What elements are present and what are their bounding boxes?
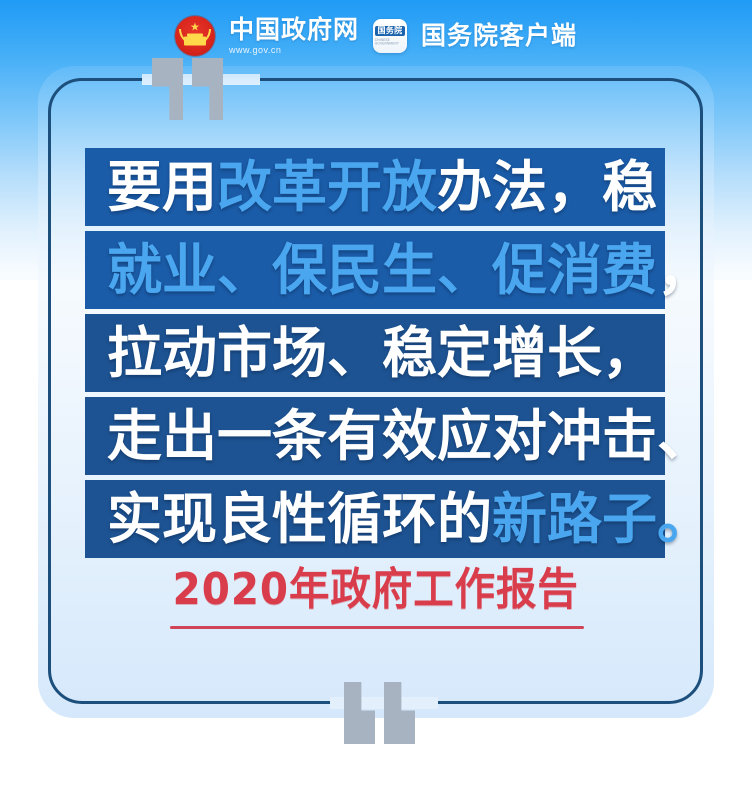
quote-line-3: 拉动市场、稳定增长， — [107, 326, 657, 381]
emblem-star: ★ — [190, 23, 200, 34]
quote-segment: ， — [657, 238, 712, 302]
national-emblem-icon: ★ — [175, 16, 215, 56]
quote-segment: 要用 — [107, 155, 217, 219]
quote-segment-highlight: 改革开放 — [217, 155, 437, 219]
quote-band: 实现良性循环的新路子。 — [85, 480, 665, 558]
poster-canvas: ★ 中国政府网 www.gov.cn 国务院 CHINESE GOVERNMEN… — [0, 0, 752, 790]
quote-line-1: 要用改革开放办法，稳 — [107, 160, 657, 215]
attribution: 2020年政府工作报告 — [0, 568, 752, 612]
quote-band: 就业、保民生、促消费， — [85, 231, 665, 309]
emblem-gate — [184, 36, 206, 45]
quote-line-2: 就业、保民生、促消费， — [107, 243, 712, 298]
quote-segment: 实现良性循环的 — [107, 487, 492, 551]
open-quote-icon — [152, 58, 223, 120]
attribution-underline — [170, 626, 584, 629]
quote-band: 走出一条有效应对冲击、 — [85, 397, 665, 475]
quote-segment-highlight: 新路子。 — [492, 487, 712, 551]
brand-url: www.gov.cn — [229, 45, 359, 55]
app-name: 国务院客户端 — [421, 24, 577, 49]
attribution-label: 2020年政府工作报告 — [173, 568, 579, 612]
quote-band: 要用改革开放办法，稳 — [85, 148, 665, 226]
quote-band: 拉动市场、稳定增长， — [85, 314, 665, 392]
brand-name: 中国政府网 — [229, 18, 359, 43]
app-icon-subtitle: CHINESE GOVERNMENT — [375, 39, 406, 46]
quote-segment: 走出一条有效应对冲击、 — [107, 404, 712, 468]
quote-segment: 办法，稳 — [437, 155, 657, 219]
quote-segment: 拉动市场、稳定增长， — [107, 321, 657, 385]
close-quote-icon — [344, 682, 415, 744]
brand-block: 中国政府网 www.gov.cn — [229, 18, 359, 55]
site-header: ★ 中国政府网 www.gov.cn 国务院 CHINESE GOVERNMEN… — [0, 12, 752, 60]
guowuyuan-app-icon: 国务院 CHINESE GOVERNMENT — [373, 19, 407, 53]
quote-band-list: 要用改革开放办法，稳 就业、保民生、促消费， 拉动市场、稳定增长， 走出一条有效… — [85, 148, 665, 558]
quote-line-4: 走出一条有效应对冲击、 — [107, 409, 712, 464]
quote-line-5: 实现良性循环的新路子。 — [107, 492, 712, 547]
quote-segment-highlight: 就业、保民生、促消费 — [107, 238, 657, 302]
app-icon-tag: 国务院 — [375, 26, 406, 37]
